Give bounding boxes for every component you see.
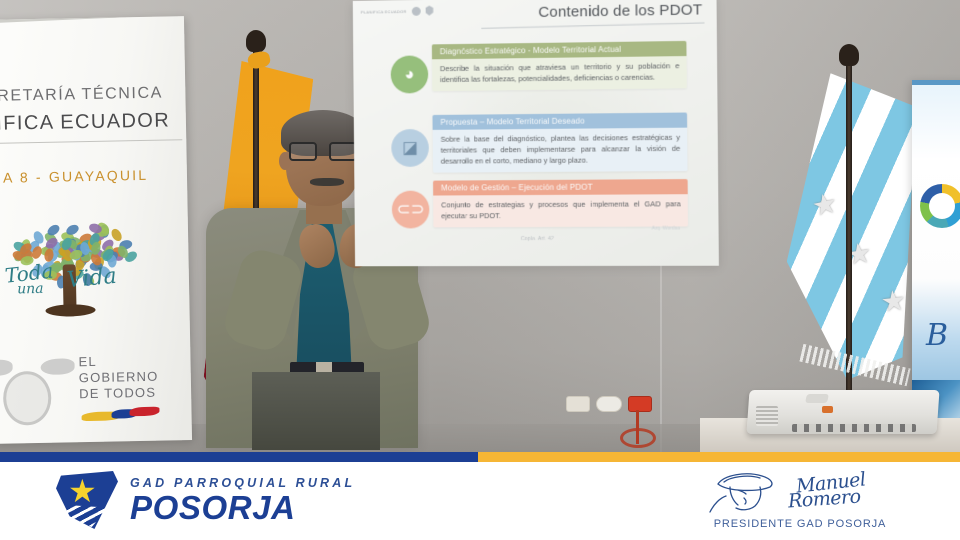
- brand-title: POSORJA: [130, 490, 355, 526]
- card-body: Conjunto de estrategias y procesos que i…: [433, 194, 688, 227]
- card-body: Sobre la base del diagnóstico, plantea l…: [433, 128, 688, 173]
- slide-footnote-right: Arq. Wordsa: [652, 225, 680, 231]
- slide-card-modelo-gestion: Modelo de Gestión – Ejecución del PDOT C…: [433, 179, 688, 227]
- projector-ports: [792, 424, 916, 432]
- divider-blue-segment: [0, 452, 478, 462]
- projector-indicator: [822, 406, 833, 413]
- power-outlet: [596, 396, 622, 412]
- gad-posorja-brand: ★ GAD PARROQUIAL RURAL POSORJA: [56, 471, 355, 531]
- bar-chart-growth-icon: ◪: [391, 129, 429, 167]
- flag-pole-finial-icon: [839, 44, 859, 66]
- flag-star-icon: ★: [808, 189, 841, 222]
- screenshot-root: ECRETARÍA TÉCNICA ANIFICA ECUADOR ONA 8 …: [0, 0, 960, 540]
- slide-title: Contenido de los PDOT: [538, 1, 702, 21]
- projector-lens-icon: [805, 394, 829, 403]
- banner-divider-rule: [0, 139, 182, 144]
- red-power-outlet: [628, 396, 652, 412]
- logo-word-una: una: [17, 281, 44, 298]
- banner-line-2: ANIFICA ECUADOR: [0, 109, 188, 137]
- slide-logo-shield-icon: [425, 6, 433, 16]
- speaker-trousers: [252, 372, 380, 450]
- data-outlet: [566, 396, 590, 412]
- divider-gold-segment: [478, 452, 960, 462]
- toda-una-vida-tree-logo: Toda una Vida: [0, 217, 152, 332]
- rollup-top-bar: [0, 16, 184, 23]
- projected-slide: PLANIFICA ECUADOR Contenido de los PDOT …: [353, 0, 719, 266]
- ecuador-flag-ribbon-icon: [81, 407, 159, 428]
- guayaquil-flag-pole: [846, 58, 852, 444]
- cord-coil: [620, 428, 656, 448]
- flag-pole-finial-icon: [246, 30, 266, 52]
- rollup-script-letter: B: [926, 318, 948, 353]
- speaker-eyeglasses-icon: [289, 142, 357, 162]
- territory-map-icon: ◕: [391, 55, 429, 93]
- right-rollup-banner: B: [912, 80, 960, 442]
- logo-word-vida: Vida: [66, 264, 118, 293]
- card-body: Describe la situación que atraviesa un t…: [432, 56, 687, 91]
- flag-tie-knot: [247, 50, 272, 70]
- president-signature-block: Manuel Romero PRESIDENTE GAD POSORJA: [700, 468, 900, 534]
- brand-subtitle: GAD PARROQUIAL RURAL: [130, 476, 355, 490]
- banner-divider: [0, 452, 960, 462]
- slide-footnote: Copla. Art. 42: [521, 236, 554, 242]
- star-icon: ★: [68, 475, 97, 507]
- presentation-photo: ECRETARÍA TÉCNICA ANIFICA ECUADOR ONA 8 …: [0, 0, 960, 452]
- slide-logo-text: PLANIFICA ECUADOR: [361, 8, 407, 14]
- ecuador-coat-of-arms-icon: [0, 348, 70, 438]
- projector-vent: [756, 406, 778, 426]
- gobierno-de-todos-label: EL GOBIERNO DE TODOS: [78, 353, 159, 403]
- card-heading: Modelo de Gestión – Ejecución del PDOT: [433, 179, 688, 195]
- slide-logo-circle-icon: [411, 6, 420, 15]
- banner-zone-label: ONA 8 - GUAYAQUIL: [0, 166, 183, 187]
- speaker-mustache: [310, 178, 344, 186]
- slide-title-rule: [481, 22, 704, 29]
- secretaria-tecnica-rollup-banner: ECRETARÍA TÉCNICA ANIFICA ECUADOR ONA 8 …: [0, 16, 192, 444]
- circular-logo-icon: [920, 184, 960, 228]
- slide-header-logos: PLANIFICA ECUADOR: [361, 2, 470, 20]
- leaf-icon: [65, 223, 81, 237]
- slide-card-propuesta: Propuesta – Modelo Territorial Deseado S…: [432, 113, 687, 173]
- brand-text-block: GAD PARROQUIAL RURAL POSORJA: [130, 476, 355, 526]
- shield-stripes-icon: [62, 505, 110, 527]
- shield-star-logo: ★: [56, 471, 118, 531]
- lower-third-banner: ★ GAD PARROQUIAL RURAL POSORJA: [0, 462, 960, 540]
- slide-card-diagnostico: Diagnóstico Estratégico - Modelo Territo…: [432, 41, 687, 91]
- handshake-icon: ⊂⊃: [392, 191, 430, 229]
- banner-line-1: ECRETARÍA TÉCNICA: [0, 84, 188, 107]
- flag-star-icon: ★: [878, 286, 909, 317]
- signature-role-label: PRESIDENTE GAD POSORJA: [700, 518, 900, 530]
